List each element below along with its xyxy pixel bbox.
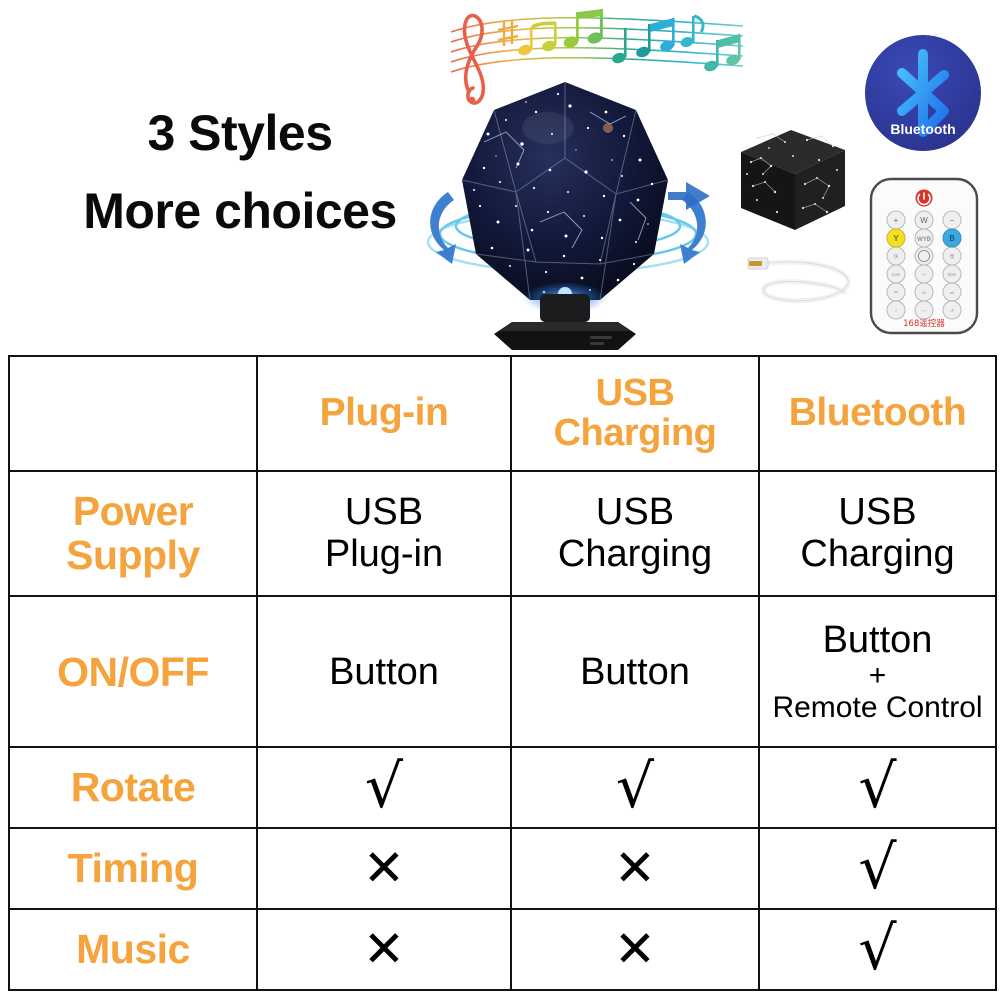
- header-bluetooth-label: Bluetooth: [762, 392, 993, 434]
- bluetooth-badge-icon: Bluetooth: [862, 32, 984, 154]
- row-label-line1: Timing: [12, 846, 254, 890]
- cell-power-bluetooth: USB Charging: [759, 471, 996, 597]
- svg-text:W: W: [920, 216, 928, 225]
- cell-line3: Remote Control: [762, 691, 993, 725]
- constellation-gift-box-image: [733, 126, 853, 236]
- table-row-timing: Timing ✕ ✕ √: [9, 828, 996, 909]
- cell-power-plug-in: USB Plug-in: [257, 471, 511, 597]
- svg-text:♪+: ♪+: [922, 272, 927, 277]
- row-label-line1: Power: [12, 489, 254, 533]
- row-label-line2: Supply: [12, 533, 254, 577]
- table-row-rotate: Rotate √ √ √: [9, 747, 996, 828]
- cell-rotate-plug-in: √: [257, 747, 511, 828]
- cell-timing-bluetooth: √: [759, 828, 996, 909]
- star-projector-lamp-image: [440, 72, 690, 356]
- cell-line1: Button: [514, 651, 756, 693]
- svg-text:⏮: ⏮: [894, 290, 898, 295]
- cell-onoff-usb-charging: Button: [511, 596, 759, 747]
- usb-charging-cable-image: [740, 248, 860, 313]
- cell-music-usb-charging: ✕: [511, 909, 759, 990]
- infographic-page: 3 Styles More choices: [0, 0, 1000, 1000]
- check-mark-icon: √: [365, 759, 403, 815]
- svg-text:快: 快: [894, 253, 899, 260]
- cell-timing-plug-in: ✕: [257, 828, 511, 909]
- remote-model-label: 168遥控器: [903, 318, 945, 329]
- comparison-table: Plug-in USB Charging Bluetooth Power Sup…: [8, 355, 997, 991]
- row-label-line1: ON/OFF: [12, 650, 254, 694]
- hero-section: 3 Styles More choices: [0, 0, 1000, 356]
- cell-line1: USB: [514, 491, 756, 533]
- cross-mark-icon: ✕: [363, 840, 405, 896]
- svg-text:+: +: [894, 216, 899, 225]
- row-label-rotate: Rotate: [9, 747, 257, 828]
- table-header-row: Plug-in USB Charging Bluetooth: [9, 356, 996, 471]
- svg-text:⏭: ⏭: [950, 290, 954, 295]
- cell-music-bluetooth: √: [759, 909, 996, 990]
- cell-line2: Charging: [514, 533, 756, 575]
- cell-onoff-plug-in: Button: [257, 596, 511, 747]
- header-cell-bluetooth: Bluetooth: [759, 356, 996, 471]
- comparison-table-wrapper: Plug-in USB Charging Bluetooth Power Sup…: [8, 355, 995, 991]
- cross-mark-icon: ✕: [614, 921, 656, 977]
- svg-text:−: −: [950, 216, 955, 225]
- svg-text:⏯: ⏯: [922, 290, 926, 295]
- check-mark-icon: √: [858, 840, 896, 896]
- header-cell-usb-charging: USB Charging: [511, 356, 759, 471]
- cell-power-usb-charging: USB Charging: [511, 471, 759, 597]
- svg-text:♪: ♪: [895, 308, 897, 313]
- cell-line2: +: [762, 661, 993, 691]
- row-label-music: Music: [9, 909, 257, 990]
- svg-text:↺: ↺: [950, 308, 954, 313]
- row-label-line1: Music: [12, 927, 254, 971]
- check-mark-icon: √: [616, 759, 654, 815]
- svg-text:60m: 60m: [948, 272, 957, 277]
- cell-line1: USB: [762, 491, 993, 533]
- check-mark-icon: √: [858, 759, 896, 815]
- header-plug-in-label: Plug-in: [260, 392, 508, 434]
- cross-mark-icon: ✕: [363, 921, 405, 977]
- headline-line-1: 3 Styles: [40, 103, 440, 163]
- svg-text:Y: Y: [893, 234, 899, 243]
- cell-rotate-usb-charging: √: [511, 747, 759, 828]
- svg-text:♪−: ♪−: [922, 308, 927, 313]
- cell-line1: USB: [260, 491, 508, 533]
- cell-rotate-bluetooth: √: [759, 747, 996, 828]
- row-label-power-supply: Power Supply: [9, 471, 257, 597]
- svg-text:10m: 10m: [892, 272, 901, 277]
- svg-text:WYB: WYB: [917, 237, 931, 243]
- ir-remote-control-image: + W − Y WYB B 快慢 10m♪+60m ⏮⏯⏭ ♪♪−↺ 168遥控…: [868, 176, 980, 336]
- page-title: 3 Styles More choices: [40, 103, 440, 241]
- cell-timing-usb-charging: ✕: [511, 828, 759, 909]
- headline-line-2: More choices: [40, 181, 440, 241]
- svg-text:B: B: [949, 234, 954, 243]
- row-label-line1: Rotate: [12, 765, 254, 809]
- header-cell-plug-in: Plug-in: [257, 356, 511, 471]
- cell-line1: Button: [260, 651, 508, 693]
- table-row-on-off: ON/OFF Button Button Button + Remote Con…: [9, 596, 996, 747]
- cell-line2: Plug-in: [260, 533, 508, 575]
- cell-onoff-bluetooth: Button + Remote Control: [759, 596, 996, 747]
- cell-line1: Button: [762, 619, 993, 661]
- header-usb-line1: USB: [514, 373, 756, 413]
- cell-music-plug-in: ✕: [257, 909, 511, 990]
- header-cell-empty: [9, 356, 257, 471]
- cell-line2: Charging: [762, 533, 993, 575]
- header-usb-line2: Charging: [514, 413, 756, 453]
- row-label-timing: Timing: [9, 828, 257, 909]
- svg-text:慢: 慢: [950, 253, 955, 260]
- table-row-power-supply: Power Supply USB Plug-in USB Charging US…: [9, 471, 996, 597]
- bluetooth-badge-label: Bluetooth: [890, 121, 955, 137]
- check-mark-icon: √: [858, 921, 896, 977]
- row-label-on-off: ON/OFF: [9, 596, 257, 747]
- cross-mark-icon: ✕: [614, 840, 656, 896]
- table-row-music: Music ✕ ✕ √: [9, 909, 996, 990]
